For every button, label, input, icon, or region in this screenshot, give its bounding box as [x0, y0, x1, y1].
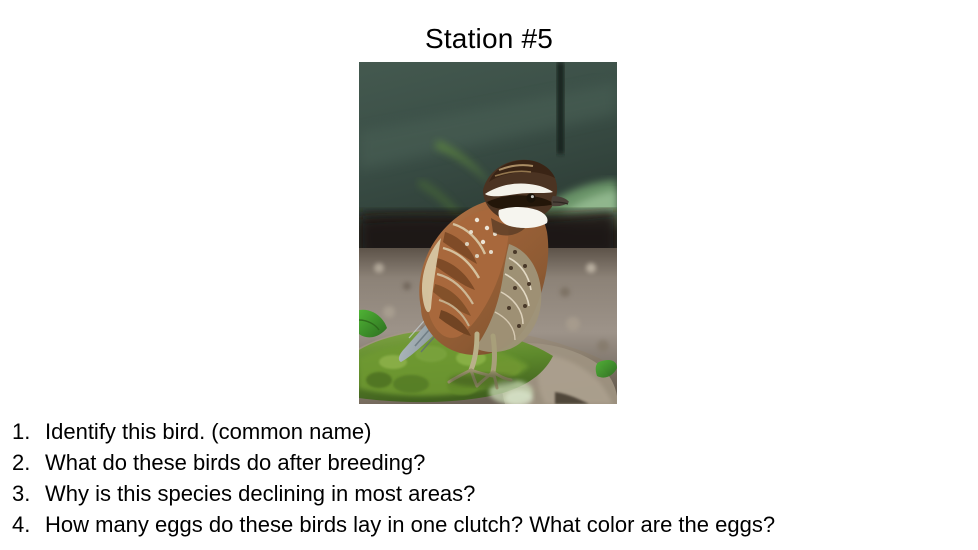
list-item-number: 3. [0, 478, 45, 509]
northern-bobwhite-quail-photo [359, 62, 617, 404]
list-item-number: 4. [0, 509, 45, 540]
list-item-label: What do these birds do after breeding? [45, 447, 425, 478]
list-item: 3. Why is this species declining in most… [0, 478, 978, 509]
list-item-number: 1. [0, 416, 45, 447]
list-item: 1. Identify this bird. (common name) [0, 416, 978, 447]
question-list: 1. Identify this bird. (common name) 2. … [0, 416, 978, 540]
list-item: 2. What do these birds do after breeding… [0, 447, 978, 478]
list-item-label: Identify this bird. (common name) [45, 416, 371, 447]
page-title: Station #5 [0, 22, 978, 56]
list-item-label: Why is this species declining in most ar… [45, 478, 475, 509]
slide-canvas: Station #5 [0, 0, 978, 550]
list-item: 4. How many eggs do these birds lay in o… [0, 509, 978, 540]
list-item-number: 2. [0, 447, 45, 478]
list-item-label: How many eggs do these birds lay in one … [45, 509, 775, 540]
